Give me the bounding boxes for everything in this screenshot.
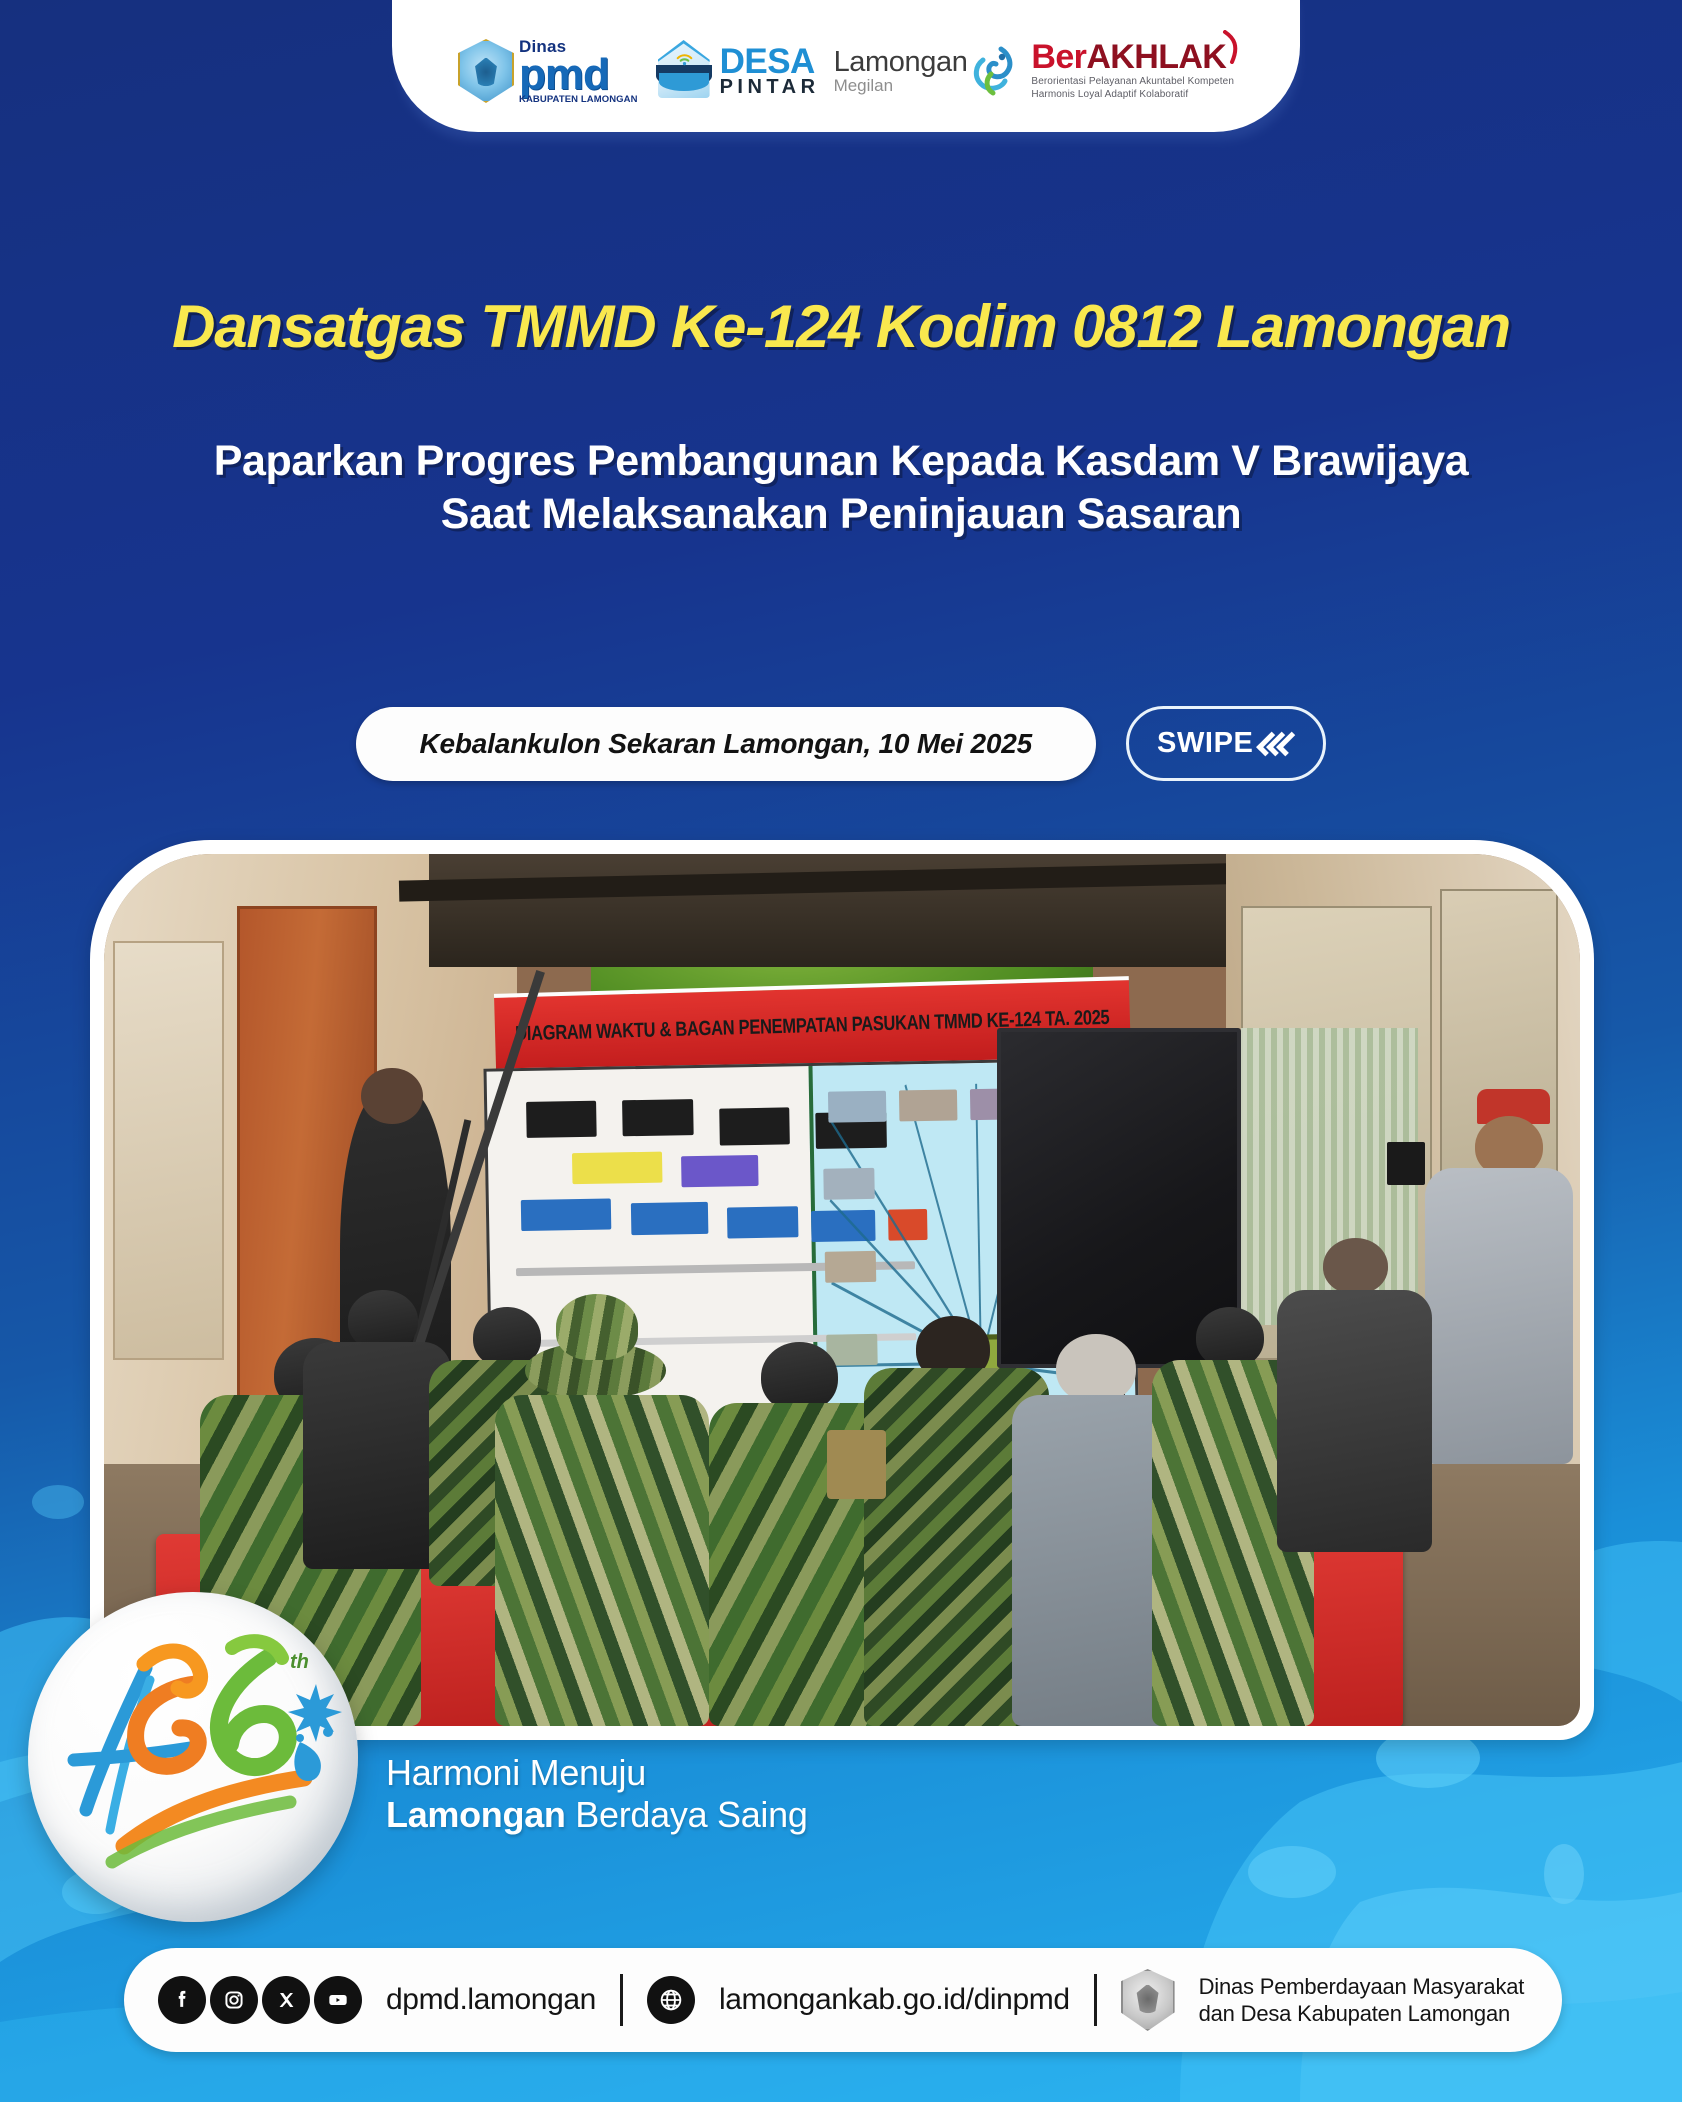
page-title: Dansatgas TMMD Ke-124 Kodim 0812 Lamonga…: [0, 292, 1682, 361]
berakhlak-word-a: Ber: [1031, 40, 1086, 74]
desa-pintar-word2: PINTAR: [720, 78, 820, 97]
anniversary-badge: th: [28, 1592, 358, 1922]
chevron-left-triple-icon: [1265, 733, 1295, 755]
swipe-button[interactable]: SWIPE: [1126, 706, 1326, 781]
berakhlak-tagline-line1: Berorientasi Pelayanan Akuntabel Kompete…: [1031, 76, 1234, 89]
berakhlak-tagline-line2: Harmonis Loyal Adaptif Kolaboratif: [1031, 89, 1234, 102]
berakhlak-word-b: AKHLAK: [1086, 40, 1226, 74]
footer-divider-1: [620, 1974, 623, 2026]
header-logo-panel: Dinas pmd KABUPATEN LAMONGAN: [392, 0, 1300, 132]
youtube-icon[interactable]: [314, 1976, 362, 2024]
pmd-logo-wordmark: pmd: [519, 55, 609, 95]
footer-divider-2: [1094, 1974, 1097, 2026]
department-name-line1: Dinas Pemberdayaan Masyarakat: [1199, 1973, 1525, 2000]
social-handle-text[interactable]: dpmd.lamongan: [386, 1983, 596, 2017]
poster-canvas: Dinas pmd KABUPATEN LAMONGAN: [0, 0, 1682, 2102]
location-date-pill: Kebalankulon Sekaran Lamongan, 10 Mei 20…: [356, 707, 1097, 781]
footer-bar: dpmd.lamongan lamongankab.go.id/dinpmd D…: [124, 1948, 1562, 2052]
tagline-line2: Lamongan Berdaya Saing: [386, 1794, 808, 1836]
pill-row: Kebalankulon Sekaran Lamongan, 10 Mei 20…: [0, 706, 1682, 781]
berakhlak-logo: Ber AKHLAK Berorientasi Pelayanan Akunta…: [1031, 40, 1234, 102]
desa-pintar-word1: DESA: [720, 45, 820, 79]
lamongan-megilan-word1: Lamongan: [834, 48, 968, 77]
tagline-line2-bold: Lamongan: [386, 1794, 566, 1835]
megilan-swirl-icon: [969, 44, 1017, 98]
swipe-label: SWIPE: [1157, 727, 1253, 760]
event-photo: DIAGRAM WAKTU & BAGAN PENEMPATAN PASUKAN…: [104, 854, 1580, 1726]
lamongan-regency-crest-icon: [1121, 1969, 1175, 2031]
wifi-icon: [676, 52, 693, 66]
desa-pintar-logo: DESA PINTAR: [652, 38, 820, 104]
lamongan-crest-icon: [458, 39, 514, 103]
tagline-line1: Harmoni Menuju: [386, 1752, 808, 1794]
department-name-line2: dan Desa Kabupaten Lamongan: [1199, 2000, 1525, 2027]
page-subtitle-line1: Paparkan Progres Pembangunan Kepada Kasd…: [0, 435, 1682, 488]
website-text[interactable]: lamongankab.go.id/dinpmd: [719, 1983, 1070, 2017]
social-icon-group: [158, 1976, 362, 2024]
tagline-block: Harmoni Menuju Lamongan Berdaya Saing: [386, 1752, 808, 1837]
instagram-icon[interactable]: [210, 1976, 258, 2024]
globe-icon: [647, 1976, 695, 2024]
pmd-logo: Dinas pmd KABUPATEN LAMONGAN: [458, 38, 638, 105]
desa-pintar-mark-icon: [652, 38, 716, 104]
x-twitter-icon[interactable]: [262, 1976, 310, 2024]
svg-text:th: th: [290, 1651, 309, 1673]
page-subtitle: Paparkan Progres Pembangunan Kepada Kasd…: [0, 435, 1682, 542]
pmd-logo-line3: KABUPATEN LAMONGAN: [519, 95, 638, 105]
logo-row: Dinas pmd KABUPATEN LAMONGAN: [458, 32, 1234, 110]
berakhlak-swoosh-icon: [1222, 30, 1242, 64]
department-name: Dinas Pemberdayaan Masyarakat dan Desa K…: [1199, 1973, 1525, 2028]
lamongan-megilan-logo: Lamongan Megilan: [834, 44, 1018, 98]
photo-frame: DIAGRAM WAKTU & BAGAN PENEMPATAN PASUKAN…: [90, 840, 1594, 1740]
tagline-line2-rest: Berdaya Saing: [566, 1794, 808, 1835]
anniversary-456-logo-icon: th: [28, 1592, 358, 1922]
page-subtitle-line2: Saat Melaksanakan Peninjauan Sasaran: [0, 488, 1682, 541]
facebook-icon[interactable]: [158, 1976, 206, 2024]
lamongan-megilan-word2: Megilan: [834, 77, 968, 94]
